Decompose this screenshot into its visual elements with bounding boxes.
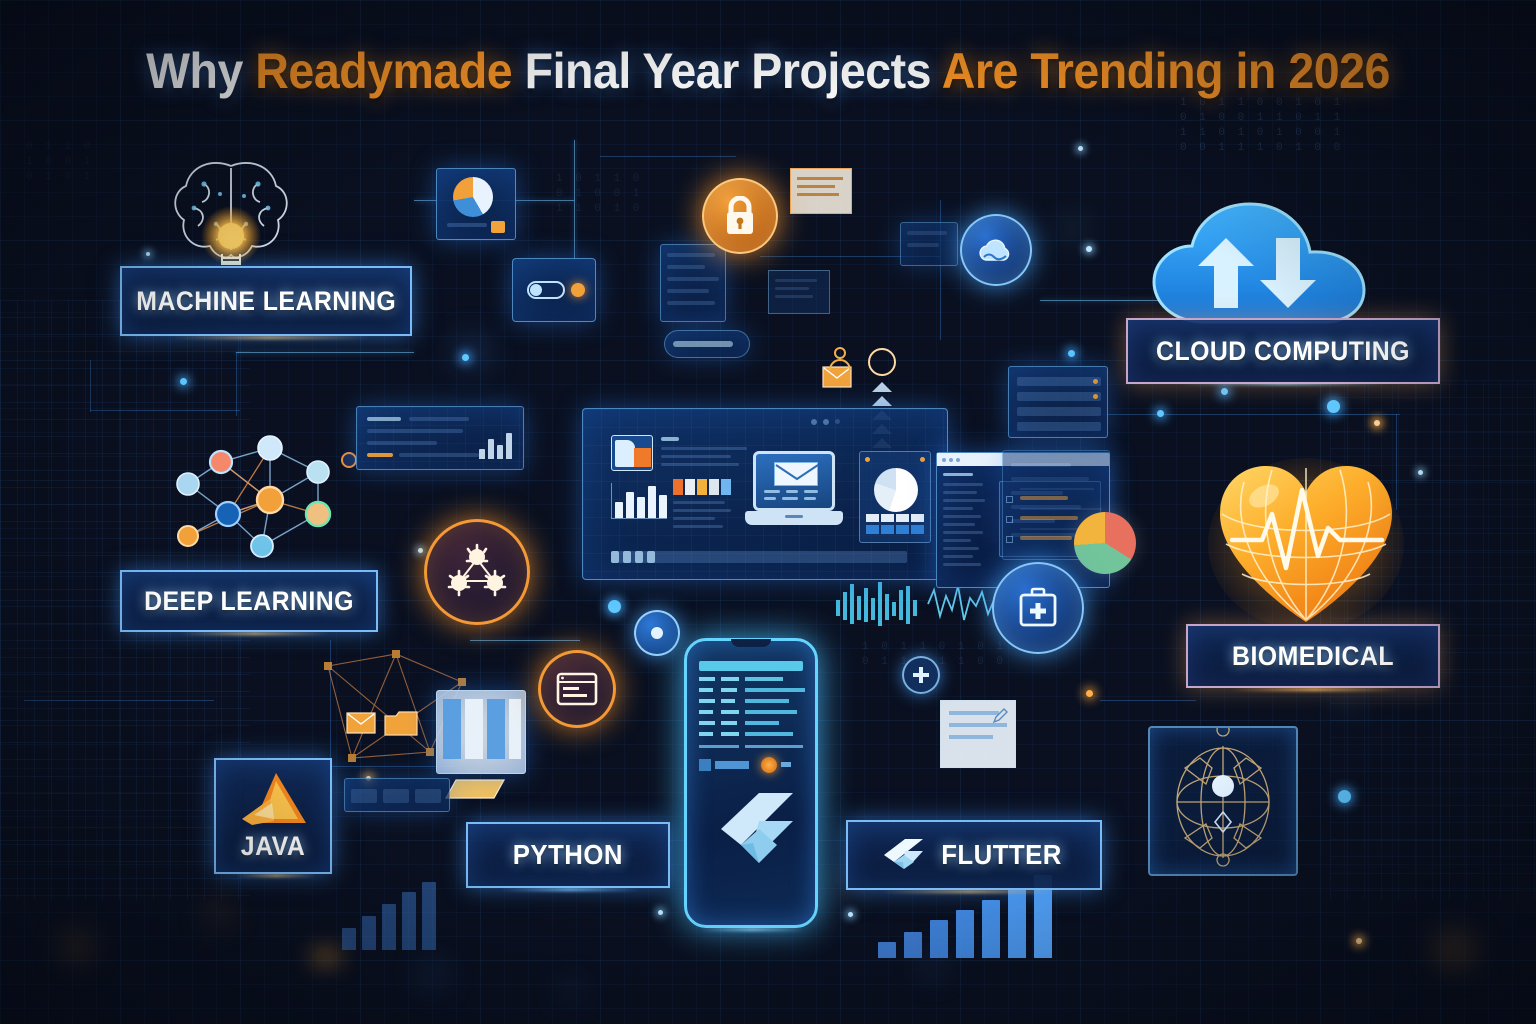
dashboard-sub-panel	[859, 451, 931, 543]
binary-text-mid-left: 1 0 1 1 0 0 1 0 0 1 1 1 0 1 0	[556, 172, 642, 217]
text-line	[673, 517, 715, 520]
title-segment-3: Final Year Projects	[525, 43, 942, 99]
poster-canvas: 1 0 1 1 0 0 1 0 1 0 1 0 0 1 1 0 1 1 1 1 …	[0, 0, 1536, 1024]
magnify-node-icon[interactable]	[634, 610, 680, 656]
phone-data-rows	[699, 677, 803, 749]
chip-underglow	[180, 632, 330, 635]
bar	[362, 916, 376, 950]
pencil-icon	[991, 707, 1009, 730]
status-pie-chart	[1074, 512, 1136, 574]
code-window-icon[interactable]	[538, 650, 616, 728]
flutter-logo-icon	[715, 791, 795, 867]
circuit-trace	[1040, 300, 1160, 301]
binary-text-top-left: 0 1 1 0 1 0 0 1 0 1 0 1	[26, 140, 93, 185]
plus-badge-icon[interactable]	[902, 656, 940, 694]
sparkle	[1418, 470, 1423, 475]
corner-dot	[865, 457, 870, 462]
circuit-node	[608, 600, 621, 613]
timeline-card[interactable]	[664, 330, 750, 358]
circuit-node	[1068, 350, 1075, 357]
color-swatch-row	[673, 479, 729, 495]
sparkle	[1086, 246, 1092, 252]
server-rack-panel[interactable]	[1008, 366, 1108, 438]
bar	[648, 486, 656, 518]
window-dot	[835, 419, 840, 424]
text-line	[661, 455, 731, 458]
circuit-node	[1086, 690, 1093, 697]
medical-kit-icon[interactable]	[992, 562, 1084, 654]
phone-screen-header	[699, 661, 803, 671]
document-card[interactable]	[940, 700, 1016, 768]
brain-lightbulb-icon	[160, 150, 302, 280]
label-machine-learning[interactable]: MACHINE LEARNING	[120, 266, 412, 336]
circuit-trace	[90, 360, 91, 412]
circuit-trace	[574, 140, 575, 260]
circuit-trace	[1100, 414, 1400, 415]
text-line	[661, 437, 679, 441]
bar	[1008, 889, 1026, 958]
laptop-icon	[745, 451, 843, 537]
label-text: CLOUD COMPUTING	[1156, 336, 1410, 367]
circuit-node	[1327, 400, 1340, 413]
chart-card-top[interactable]	[436, 168, 516, 240]
label-java[interactable]: JAVA	[214, 758, 332, 874]
chip-underglow	[170, 336, 370, 339]
window-dot	[811, 419, 817, 425]
cloud-sync-icon[interactable]	[960, 214, 1032, 286]
circuit-trace	[24, 700, 214, 701]
text-line	[673, 509, 731, 512]
sparkle	[1374, 420, 1380, 426]
chip-underglow	[1230, 688, 1400, 691]
folder-icon	[384, 710, 418, 736]
sparkline	[479, 425, 515, 459]
label-deep-learning[interactable]: DEEP LEARNING	[120, 570, 378, 632]
text-line	[673, 501, 725, 504]
circuit-trace	[236, 352, 414, 353]
pie-chart-icon	[453, 177, 493, 217]
bar	[382, 904, 396, 950]
phone-badge-icon	[761, 757, 777, 773]
bar	[402, 892, 416, 950]
form-card-top-right[interactable]	[900, 222, 958, 266]
circuit-node	[1157, 410, 1164, 417]
text-line	[661, 447, 747, 450]
java-logo-icon	[234, 771, 312, 827]
list-card-top[interactable]	[660, 244, 726, 322]
window-dot	[949, 458, 953, 462]
heart-ecg-globe-icon	[1206, 452, 1406, 634]
window-dot	[942, 458, 946, 462]
circuit-trace	[90, 410, 240, 411]
bar	[904, 932, 922, 958]
label-python[interactable]: PYTHON	[466, 822, 670, 888]
document-card[interactable]	[768, 270, 830, 314]
bar	[342, 928, 356, 950]
label-text: BIOMEDICAL	[1232, 641, 1394, 672]
neural-gear-network-icon[interactable]	[424, 519, 530, 625]
label-flutter[interactable]: FLUTTER	[846, 820, 1102, 890]
title-segment-2: Readymade	[255, 43, 524, 99]
network-graph-icon	[166, 426, 380, 574]
kanban-card[interactable]	[344, 778, 450, 812]
image-thumbnail	[611, 435, 653, 471]
sparkle	[418, 548, 423, 553]
window-dot	[956, 458, 960, 462]
image-gallery-card[interactable]	[436, 690, 526, 774]
circuit-node	[1338, 790, 1351, 803]
bar	[878, 942, 896, 958]
bar	[659, 495, 667, 518]
bar	[956, 910, 974, 958]
background-bar-chart-left	[340, 880, 490, 950]
smartphone-device[interactable]	[684, 638, 818, 928]
bar	[982, 900, 1000, 958]
pie-chart-icon	[874, 468, 918, 512]
window-dot	[823, 419, 829, 425]
circuit-trace	[600, 156, 736, 157]
label-text: DEEP LEARNING	[144, 586, 354, 617]
sidebar-list[interactable]	[943, 473, 991, 581]
mail-envelope-icon	[774, 462, 818, 486]
toggle-card[interactable]	[512, 258, 596, 322]
label-text: MACHINE LEARNING	[136, 286, 396, 317]
sparkle	[146, 252, 150, 256]
label-text: PYTHON	[513, 839, 623, 871]
chip-underglow	[236, 874, 316, 877]
circuit-trace	[1100, 700, 1196, 701]
sparkle	[1356, 938, 1362, 944]
text-line	[673, 525, 723, 528]
user-avatar-icon[interactable]	[826, 344, 854, 372]
bar	[637, 497, 645, 518]
sparkle	[1078, 146, 1083, 151]
document-sheet-icon	[442, 776, 508, 804]
title-segment-1: Why	[146, 43, 255, 99]
sparkle	[658, 910, 663, 915]
main-dashboard-panel[interactable]	[582, 408, 948, 580]
label-text: FLUTTER	[942, 839, 1063, 871]
mail-envelope-icon	[346, 712, 376, 734]
progress-bar[interactable]	[611, 551, 907, 563]
bar	[930, 920, 948, 958]
dashboard-bar-chart	[611, 483, 667, 519]
phone-notch	[731, 639, 771, 647]
padlock-icon[interactable]	[702, 178, 778, 254]
bar	[626, 492, 634, 518]
circuit-node	[462, 354, 469, 361]
binary-text-top-right: 1 0 1 1 0 0 1 0 1 0 1 0 0 1 1 0 1 1 1 1 …	[1180, 96, 1343, 156]
label-text: JAVA	[241, 831, 305, 862]
label-biomedical[interactable]: BIOMEDICAL	[1186, 624, 1440, 688]
title-segment-4: Are Trending in 2026	[942, 43, 1390, 99]
bar	[615, 502, 623, 518]
text-line	[661, 463, 739, 466]
flutter-logo-icon	[880, 838, 924, 872]
chip-underglow	[500, 888, 640, 891]
data-grid	[866, 514, 924, 536]
sparkle	[848, 912, 853, 917]
iot-sphere-icon	[1148, 726, 1298, 876]
corner-dot	[920, 457, 925, 462]
circuit-node	[1221, 388, 1228, 395]
document-card-orange[interactable]	[790, 168, 852, 214]
chip-underglow	[880, 890, 1060, 893]
bar	[422, 882, 436, 950]
page-title: Why Readymade Final Year Projects Are Tr…	[54, 42, 1482, 100]
phone-underglow	[700, 928, 804, 931]
analytics-panel-top-left[interactable]	[356, 406, 524, 470]
circuit-trace	[940, 200, 941, 340]
label-cloud-computing[interactable]: CLOUD COMPUTING	[1126, 318, 1440, 384]
circuit-node	[180, 378, 187, 385]
cloud-upload-download-icon	[1146, 196, 1410, 336]
circuit-trace	[236, 352, 237, 416]
